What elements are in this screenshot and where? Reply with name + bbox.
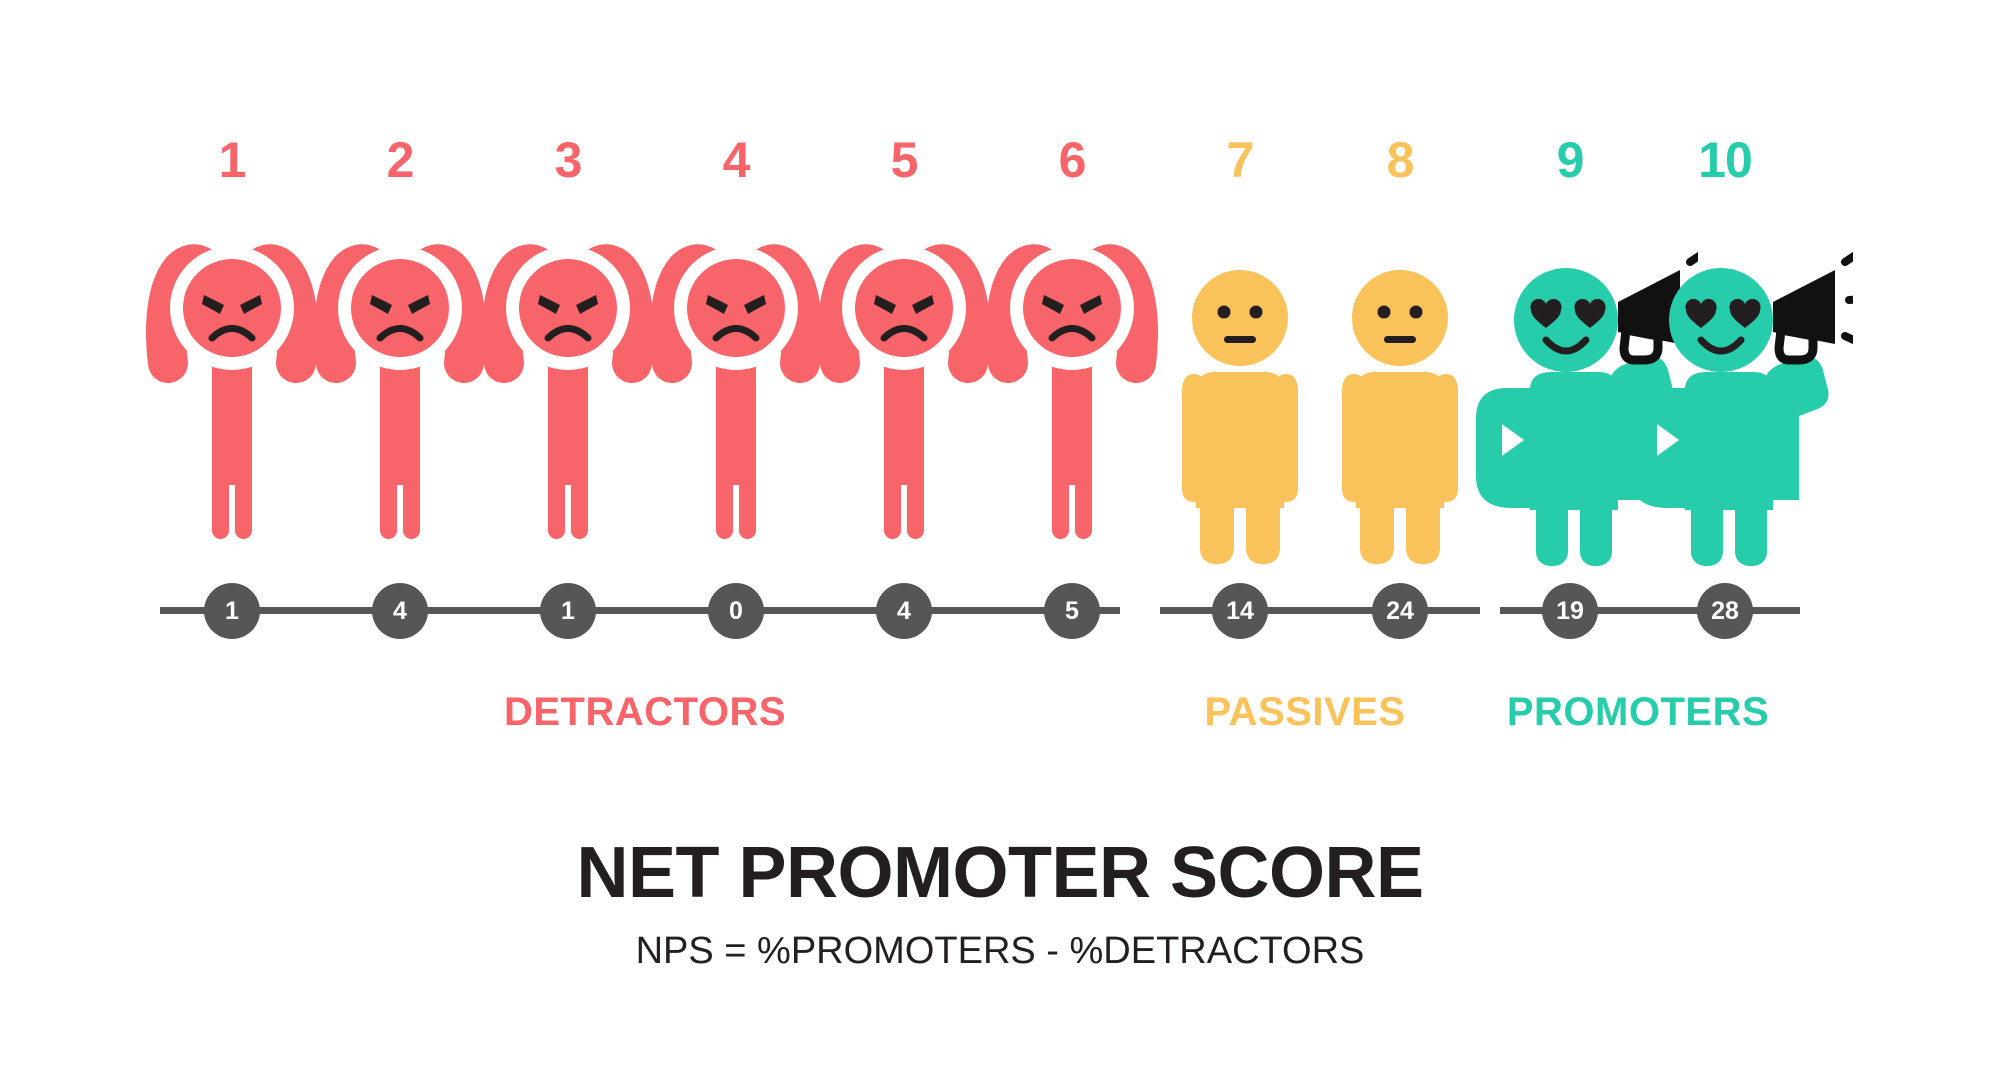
group-label-detractors: DETRACTORS: [345, 690, 945, 735]
nps-formula: NPS = %PROMOTERS - %DETRACTORS: [0, 930, 2000, 973]
count-badge-6: 5: [1044, 583, 1100, 639]
count-badge-4: 0: [708, 583, 764, 639]
nps-infographic: 12345678910: [0, 0, 2000, 1091]
group-label-promoters: PROMOTERS: [1338, 690, 1938, 735]
count-badge-8: 24: [1372, 583, 1428, 639]
passives-track: [1160, 607, 1480, 614]
count-badge-7: 14: [1212, 583, 1268, 639]
count-badge-5: 4: [876, 583, 932, 639]
footer: NET PROMOTER SCORE NPS = %PROMOTERS - %D…: [0, 830, 2000, 973]
page-title: NET PROMOTER SCORE: [0, 830, 2000, 916]
count-badge-3: 1: [540, 583, 596, 639]
count-badge-1: 1: [204, 583, 260, 639]
count-badge-2: 4: [372, 583, 428, 639]
count-badge-9: 19: [1542, 583, 1598, 639]
count-badge-10: 28: [1697, 583, 1753, 639]
detractors-track: [160, 607, 1120, 614]
